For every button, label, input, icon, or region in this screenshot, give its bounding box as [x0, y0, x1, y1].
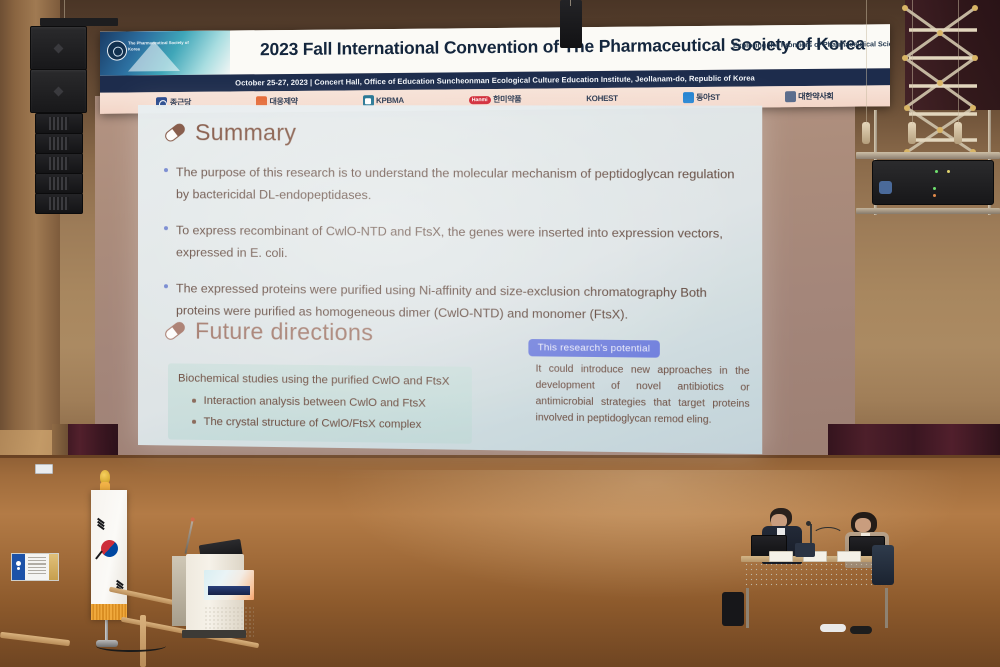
banner-top-section: The Pharmaceutical Society of Korea 2023…: [100, 24, 890, 76]
lectern-base: [182, 630, 246, 638]
projector-lower-shelf: [856, 208, 1000, 214]
rigging-wire: [64, 0, 65, 20]
sign-side-tab: [49, 554, 58, 580]
speaker-module: [35, 193, 83, 214]
wheelchair-icon: [12, 554, 25, 580]
rigging-wire: [866, 0, 867, 124]
projector-status-led: [933, 187, 936, 190]
chair-back: [795, 543, 815, 557]
south-korea-flag: [91, 490, 127, 618]
rigging-wire: [570, 0, 571, 6]
projector-status-led: [947, 170, 950, 173]
conference-hall-photo: The Pharmaceutical Society of Korea 2023…: [0, 0, 1000, 667]
summary-bullet-text: To express recombinant of CwlO-NTD and F…: [176, 219, 737, 267]
speaker-module: [35, 173, 83, 194]
shoe: [820, 624, 846, 632]
pendant-fitting: [908, 122, 916, 144]
presenter-face: [855, 518, 871, 532]
nameplate: [837, 551, 861, 562]
speaker-module: [35, 133, 83, 154]
future-directions-item: The crystal structure of CwlO/FtsX compl…: [192, 413, 462, 435]
sponsor-name: KOHEST: [586, 94, 618, 103]
pendant-fitting: [862, 122, 870, 144]
sponsor-logo: 동아ST: [683, 92, 720, 103]
speaker-module: [35, 113, 83, 134]
taeguk-symbol-icon: [98, 537, 121, 560]
sponsor-name: 동아ST: [696, 92, 720, 103]
table-microphone-head: [806, 521, 811, 526]
table-leg: [746, 588, 749, 628]
summary-heading-group: Summary: [164, 119, 296, 146]
speaker-cabinet: [30, 69, 87, 113]
future-directions-heading-group: Future directions: [164, 317, 373, 346]
sign-text-lines: [25, 554, 49, 580]
gooseneck-microphone: [812, 527, 844, 545]
research-potential-badge: This research's potential: [528, 339, 659, 358]
lectern-front-panel: [186, 554, 244, 632]
future-directions-heading: Future directions: [195, 318, 373, 347]
wheelchair-access-sign: [11, 553, 59, 581]
wall-plate-sign: [35, 464, 53, 474]
kpa-logo-icon: [785, 91, 796, 102]
summary-heading: Summary: [195, 119, 296, 146]
bag-on-floor: [722, 592, 744, 626]
bullet-dot-icon: [192, 399, 196, 403]
head-table: [741, 556, 893, 592]
chair-back: [872, 545, 894, 585]
bullet-dot-icon: [164, 226, 168, 230]
future-directions-box: Biochemical studies using the purified C…: [168, 363, 472, 443]
bullet-dot-icon: [164, 168, 168, 172]
summary-bullet: The purpose of this research is to under…: [164, 161, 737, 208]
ceiling-projector: [872, 160, 994, 205]
bullet-dot-icon: [164, 284, 168, 288]
research-potential-text: It could introduce new approaches in the…: [536, 361, 750, 429]
projector-shelf: [856, 152, 1000, 159]
center-hung-speaker: [560, 0, 582, 48]
capsule-icon: [162, 319, 187, 343]
projector-status-led: [935, 170, 938, 173]
table-leg: [885, 588, 888, 628]
future-directions-item-text: Interaction analysis between CwlO and Ft…: [204, 392, 426, 413]
rigging-wire: [958, 0, 959, 124]
shoe: [850, 626, 872, 634]
summary-bullet: To express recombinant of CwlO-NTD and F…: [164, 219, 737, 267]
future-directions-item-text: The crystal structure of CwlO/FtsX compl…: [204, 413, 422, 434]
pendant-fitting: [954, 122, 962, 144]
lectern-graphic-panel: [204, 570, 254, 600]
sponsor-name: KPBMA: [376, 96, 404, 105]
hanmi-logo-icon: Hanmi: [469, 96, 491, 104]
projected-slide: Summary The purpose of this research is …: [138, 105, 762, 454]
summary-bullet-list: The purpose of this research is to under…: [164, 161, 737, 341]
projector-lens-icon: [879, 181, 892, 194]
floor-cable: [96, 640, 166, 652]
table-skirt-panel: [744, 562, 890, 588]
sponsor-logo: KOHEST: [586, 94, 618, 103]
dongast-logo-icon: [683, 92, 694, 103]
rigging-wire: [912, 0, 913, 124]
bullet-dot-icon: [192, 420, 196, 424]
capsule-icon: [162, 121, 187, 145]
speaker-cabinet: [30, 26, 87, 70]
summary-bullet-text: The purpose of this research is to under…: [176, 161, 737, 208]
projector-status-led: [933, 194, 936, 197]
stage-floor-edge: [0, 455, 1000, 458]
sponsor-name: 대한약사회: [798, 91, 833, 102]
future-directions-lead: Biochemical studies using the purified C…: [178, 369, 462, 392]
psk-org-name: The Pharmaceutical Society of Korea: [128, 40, 190, 53]
sponsor-logo: Hanmi 한미약품: [469, 94, 522, 106]
speaker-fly-bar: [40, 18, 118, 26]
nameplate: [769, 551, 793, 562]
speaker-module: [35, 153, 83, 174]
sponsor-logo: 대한약사회: [785, 91, 834, 102]
sponsor-name: 한미약품: [493, 94, 521, 105]
psk-emblem-icon: [107, 41, 127, 61]
conference-banner: The Pharmaceutical Society of Korea 2023…: [100, 24, 890, 114]
future-directions-item: Interaction analysis between CwlO and Ft…: [192, 392, 462, 414]
line-array-speaker-stack: [22, 8, 92, 213]
lectern: [172, 542, 244, 638]
